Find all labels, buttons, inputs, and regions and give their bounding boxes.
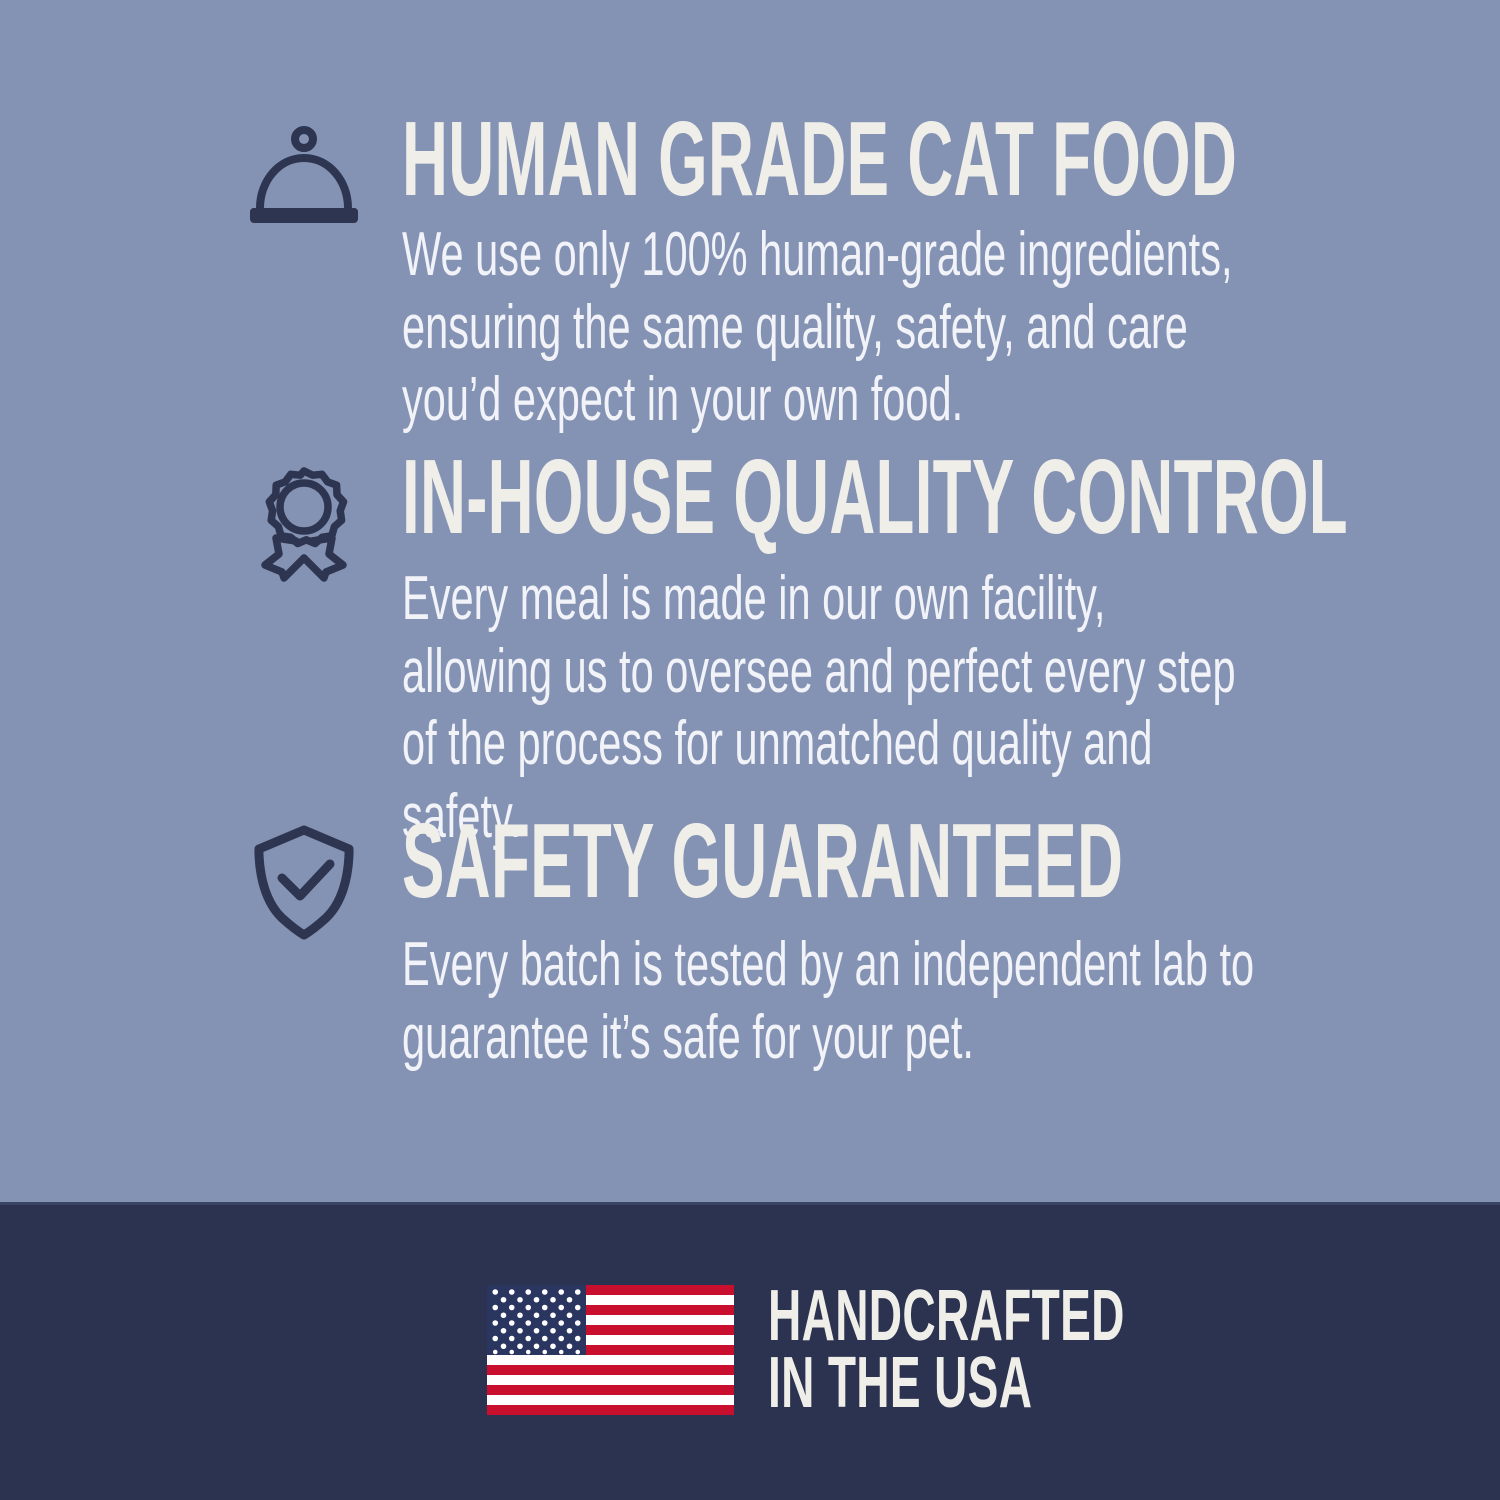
- feature-description: Every batch is tested by an independent …: [402, 929, 1255, 1074]
- feature-description: We use only 100% human-grade ingredients…: [402, 219, 1255, 437]
- feature-text-block: SAFETY GUARANTEED Every batch is tested …: [402, 816, 1256, 1074]
- footer-tagline: HANDCRAFTED IN THE USA: [768, 1283, 1125, 1417]
- footer-banner: HANDCRAFTED IN THE USA: [0, 1202, 1500, 1500]
- footer-tagline-line-2: IN THE USA: [768, 1350, 1125, 1417]
- shield-check-icon: [246, 822, 362, 942]
- feature-title: SAFETY GUARANTEED: [402, 816, 1253, 907]
- feature-title: HUMAN GRADE CAT FOOD: [402, 114, 1253, 205]
- feature-item-in-house-quality-control: IN-HOUSE QUALITY CONTROL Every meal is m…: [246, 452, 1256, 853]
- features-section: HUMAN GRADE CAT FOOD We use only 100% hu…: [0, 0, 1500, 1202]
- footer-tagline-line-1: HANDCRAFTED: [768, 1283, 1125, 1350]
- feature-item-human-grade-cat-food: HUMAN GRADE CAT FOOD We use only 100% hu…: [246, 114, 1256, 437]
- footer-content: HANDCRAFTED IN THE USA: [487, 1283, 1325, 1417]
- infographic-page: HUMAN GRADE CAT FOOD We use only 100% hu…: [0, 0, 1500, 1500]
- usa-flag-icon: [487, 1284, 734, 1416]
- cloche-food-dome-icon: [246, 118, 362, 238]
- feature-title: IN-HOUSE QUALITY CONTROL: [402, 452, 1253, 543]
- feature-text-block: IN-HOUSE QUALITY CONTROL Every meal is m…: [402, 452, 1256, 853]
- feature-item-safety-guaranteed: SAFETY GUARANTEED Every batch is tested …: [246, 816, 1256, 1074]
- award-rosette-icon: [246, 462, 362, 582]
- feature-text-block: HUMAN GRADE CAT FOOD We use only 100% hu…: [402, 114, 1256, 437]
